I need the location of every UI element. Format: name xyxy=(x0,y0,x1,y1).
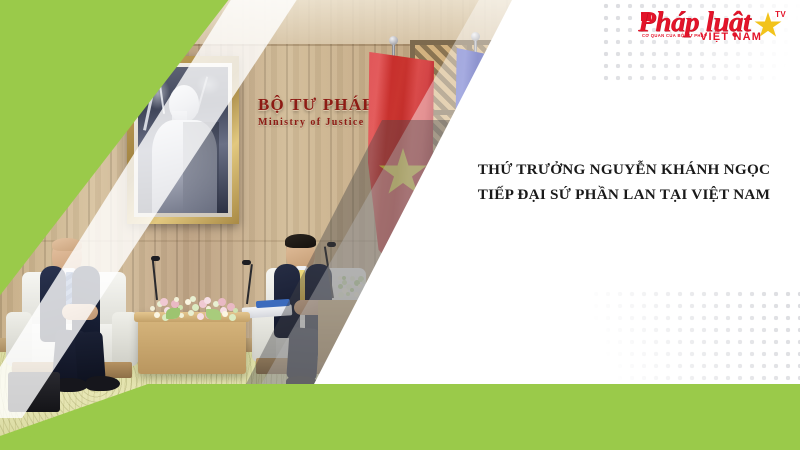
framed-portrait xyxy=(127,56,239,224)
logo-subtitle: CƠ QUAN CỦA BỘ TƯ PHÁP xyxy=(642,33,707,38)
side-table xyxy=(318,300,384,362)
briefcase xyxy=(8,372,60,412)
flag-pole-finial xyxy=(389,36,398,45)
floral-arrangement xyxy=(148,296,240,322)
logo-tv-badge: TV xyxy=(775,10,786,19)
meeting-photograph: BỘ TƯ PHÁP Ministry of Justice xyxy=(0,0,800,450)
wall-sign-primary: BỘ TƯ PHÁP xyxy=(258,96,384,113)
headline-line-2: TIẾP ĐẠI SỨ PHẦN LAN TẠI VIỆT NAM xyxy=(474,183,774,208)
flag-pole-finial xyxy=(471,32,480,41)
portrait-image xyxy=(138,67,228,213)
wall-sign: BỘ TƯ PHÁP Ministry of Justice xyxy=(258,96,384,128)
phapluat-tv-logo[interactable]: Pháp luật CƠ QUAN CỦA BỘ TƯ PHÁP VIỆT NA… xyxy=(638,6,788,48)
logo-country-label: VIỆT NAM xyxy=(700,31,762,43)
promo-banner: BỘ TƯ PHÁP Ministry of Justice xyxy=(0,0,800,450)
side-vase xyxy=(338,276,368,306)
frame-mat xyxy=(134,63,232,217)
headline: THỨ TRƯỞNG NGUYỄN KHÁNH NGỌC TIẾP ĐẠI SỨ… xyxy=(474,158,774,207)
wall-sign-secondary: Ministry of Justice xyxy=(258,118,384,128)
headline-line-1: THỨ TRƯỞNG NGUYỄN KHÁNH NGỌC xyxy=(474,158,774,183)
